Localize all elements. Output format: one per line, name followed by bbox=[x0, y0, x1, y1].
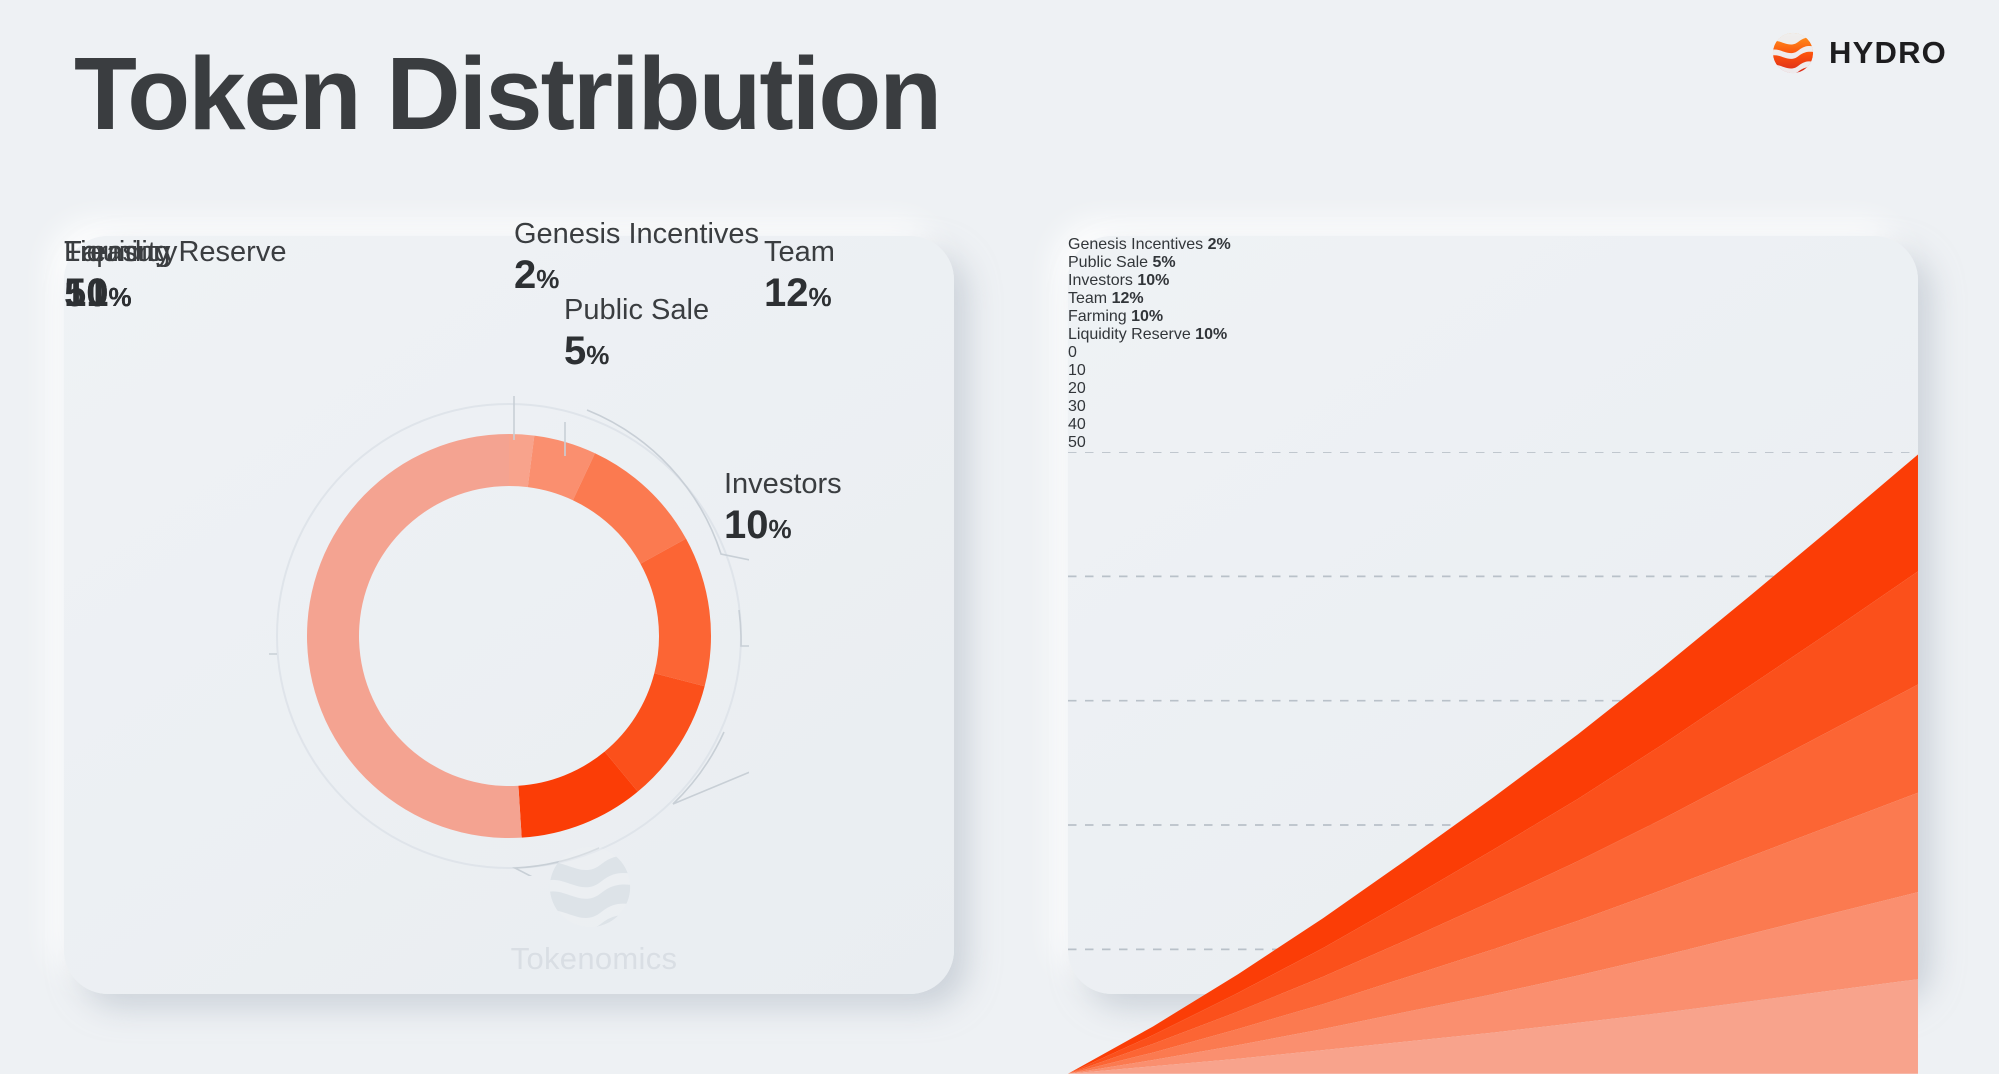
y-tick-label: 20 bbox=[1068, 380, 1918, 398]
legend-item-investors[interactable]: Investors 10% bbox=[1068, 272, 1918, 290]
y-tick-label: 30 bbox=[1068, 398, 1918, 416]
donut-segment-team[interactable] bbox=[640, 539, 711, 687]
page-title: Token Distribution bbox=[74, 36, 940, 151]
hydro-globe-logo-icon bbox=[1770, 30, 1816, 76]
donut-segment-treasury[interactable] bbox=[307, 434, 522, 838]
y-axis: 01020304050 bbox=[1068, 344, 1918, 452]
donut-label-value: 5% bbox=[564, 328, 709, 374]
y-tick-label: 0 bbox=[1068, 344, 1918, 362]
legend-label: Investors 10% bbox=[1068, 272, 1169, 289]
donut-segment-investors[interactable] bbox=[573, 453, 686, 564]
donut-label-name: Treasury bbox=[64, 236, 177, 270]
donut-label-investors: Investors 10% bbox=[724, 468, 842, 548]
legend-label: Team 12% bbox=[1068, 290, 1144, 307]
donut-label-team: Team 12% bbox=[764, 236, 835, 316]
donut-label-public-sale: Public Sale 5% bbox=[564, 294, 709, 374]
legend-label: Genesis Incentives 2% bbox=[1068, 236, 1231, 253]
donut-label-value: 51% bbox=[64, 270, 177, 316]
chart-legend: Genesis Incentives 2%Public Sale 5%Inves… bbox=[1068, 236, 1918, 344]
donut-label-name: Investors bbox=[724, 468, 842, 502]
brand-logo: HYDRO bbox=[1770, 30, 1947, 76]
legend-item-farming[interactable]: Farming 10% bbox=[1068, 308, 1918, 326]
brand-name: HYDRO bbox=[1829, 35, 1947, 71]
donut-center-caption: Tokenomics bbox=[394, 941, 794, 977]
donut-chart-card: Tokenomics Genesis Incentives 2% Public … bbox=[64, 236, 954, 994]
legend-value: 10% bbox=[1137, 272, 1169, 289]
token-distribution-donut bbox=[269, 396, 749, 876]
donut-label-name: Team bbox=[764, 236, 835, 270]
legend-label: Farming 10% bbox=[1068, 308, 1163, 325]
donut-label-genesis-incentives: Genesis Incentives 2% bbox=[514, 218, 759, 298]
area-chart-plot bbox=[1068, 452, 1918, 1074]
legend-value: 12% bbox=[1112, 290, 1144, 307]
y-tick-label: 10 bbox=[1068, 362, 1918, 380]
y-tick-label: 40 bbox=[1068, 416, 1918, 434]
legend-item-genesis-incentives[interactable]: Genesis Incentives 2% bbox=[1068, 236, 1918, 254]
legend-value: 10% bbox=[1131, 308, 1163, 325]
donut-label-name: Public Sale bbox=[564, 294, 709, 328]
donut-label-treasury: Treasury 51% bbox=[64, 236, 177, 316]
legend-item-public-sale[interactable]: Public Sale 5% bbox=[1068, 254, 1918, 272]
donut-label-name: Genesis Incentives bbox=[514, 218, 759, 252]
y-tick-label: 50 bbox=[1068, 434, 1918, 452]
legend-value: 10% bbox=[1195, 326, 1227, 343]
donut-label-value: 10% bbox=[724, 502, 842, 548]
donut-segment-group bbox=[307, 434, 711, 838]
legend-label: Public Sale 5% bbox=[1068, 254, 1176, 271]
token-unlock-area-chart: 01020304050 bbox=[1068, 344, 1918, 1074]
legend-label: Liquidity Reserve 10% bbox=[1068, 326, 1227, 343]
area-series-group bbox=[1068, 454, 1918, 1073]
donut-label-value: 12% bbox=[764, 270, 835, 316]
donut-label-value: 2% bbox=[514, 252, 759, 298]
legend-item-liquidity-reserve[interactable]: Liquidity Reserve 10% bbox=[1068, 326, 1918, 344]
area-chart-card: Genesis Incentives 2%Public Sale 5%Inves… bbox=[1068, 236, 1918, 994]
legend-value: 5% bbox=[1153, 254, 1176, 271]
legend-item-team[interactable]: Team 12% bbox=[1068, 290, 1918, 308]
hydro-globe-watermark-icon bbox=[544, 841, 636, 933]
legend-value: 2% bbox=[1208, 236, 1231, 253]
